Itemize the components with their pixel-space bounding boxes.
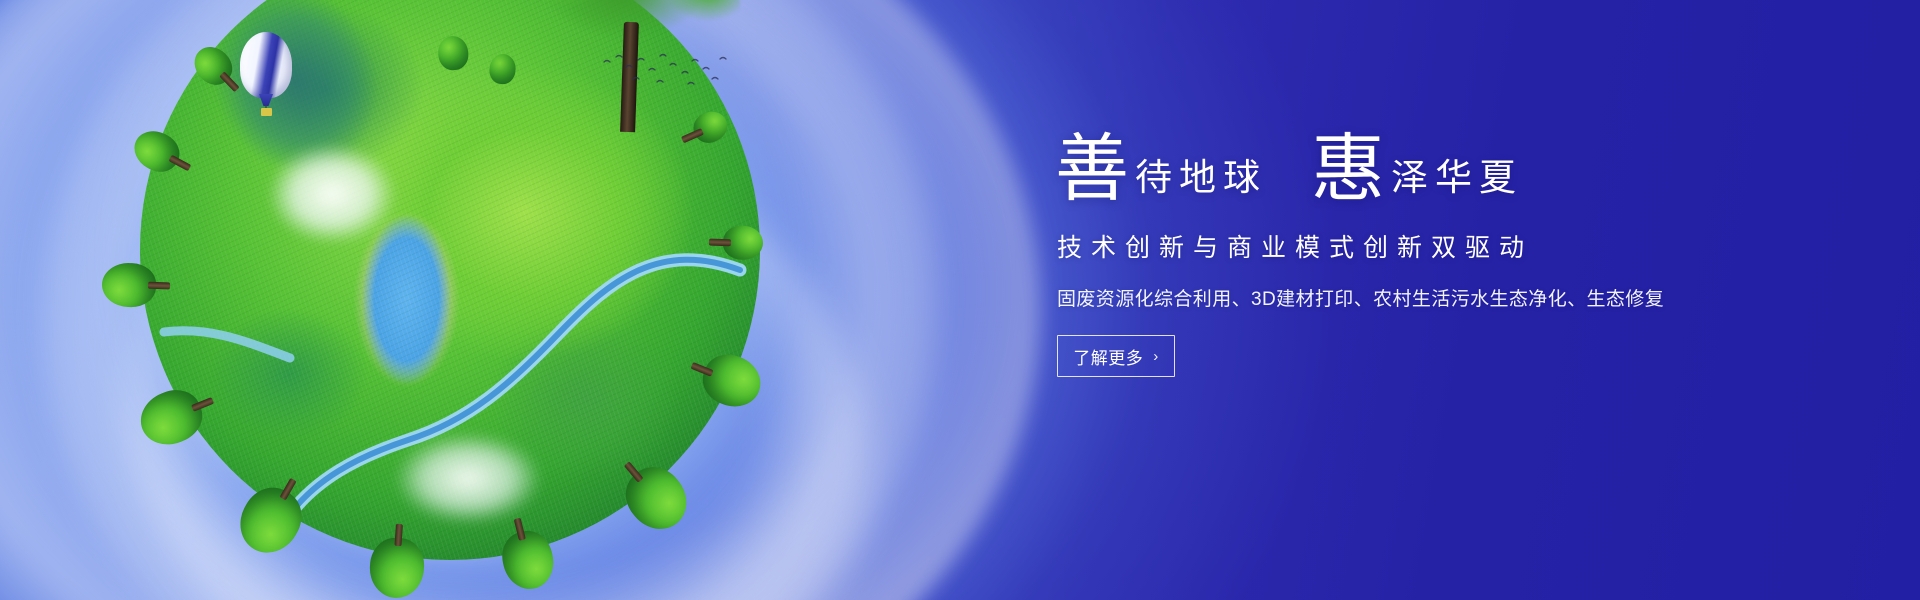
headline-rest-1: 待地球 xyxy=(1135,159,1267,196)
headline-lead-char-1: 善 xyxy=(1055,132,1129,206)
hot-air-balloon-icon xyxy=(240,32,292,124)
hero-content: 善 待地球 惠 泽华夏 技术创新与商业模式创新双驱动 固废资源化综合利用、3D建… xyxy=(1055,132,1695,377)
headline-phrase-1: 善 待地球 xyxy=(1055,132,1267,206)
bird-flock-icon xyxy=(600,48,730,92)
hero-headline: 善 待地球 惠 泽华夏 xyxy=(1055,132,1695,206)
chevron-right-icon: › xyxy=(1153,349,1159,364)
learn-more-button[interactable]: 了解更多 › xyxy=(1057,335,1175,377)
rim-tree xyxy=(722,225,763,260)
hero-description: 固废资源化综合利用、3D建材打印、农村生活污水生态净化、生态修复 xyxy=(1057,284,1695,311)
rim-tree xyxy=(368,536,426,600)
headline-lead-char-2: 惠 xyxy=(1311,132,1385,206)
hero-banner: 善 待地球 惠 泽华夏 技术创新与商业模式创新双驱动 固废资源化综合利用、3D建… xyxy=(0,0,1920,600)
headline-rest-2: 泽华夏 xyxy=(1391,159,1523,196)
hero-subtitle: 技术创新与商业模式创新双驱动 xyxy=(1057,228,1695,264)
headline-phrase-2: 惠 泽华夏 xyxy=(1311,132,1523,206)
rim-tree xyxy=(101,262,157,308)
rim-shrub xyxy=(437,35,470,72)
learn-more-label: 了解更多 xyxy=(1073,344,1143,369)
